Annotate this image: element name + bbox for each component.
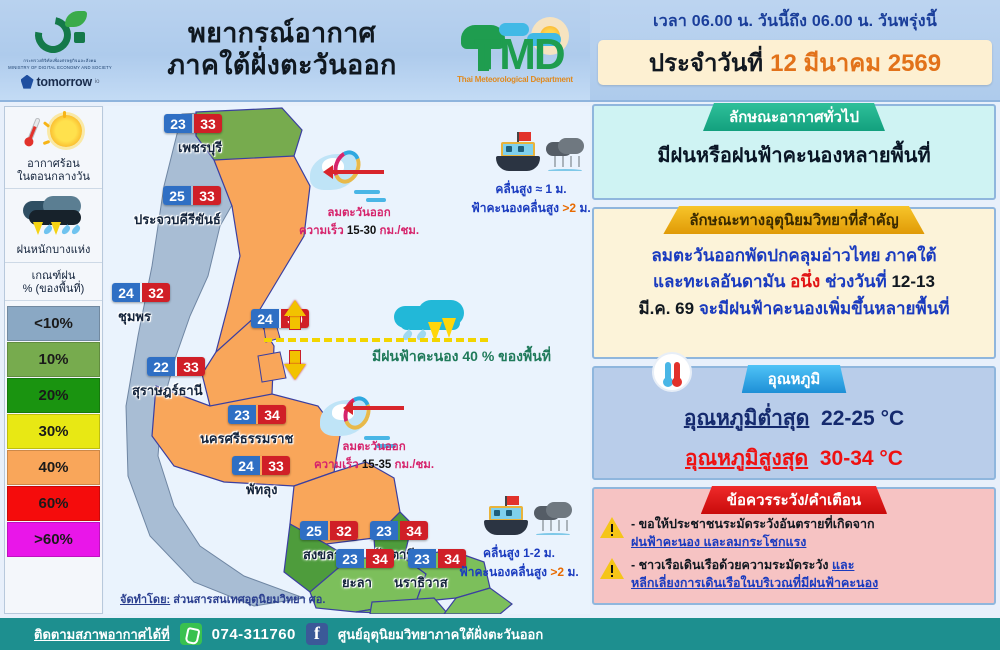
legend-swatch-4: 40% <box>7 450 100 485</box>
date-box: ประจำวันที่ 12 มีนาคม 2569 <box>598 40 992 85</box>
temp-low: 22 <box>147 357 175 376</box>
legend-scale-title: เกณฑ์ฝน % (ของพื้นที่) <box>5 263 102 301</box>
boat-icon-south <box>480 496 532 540</box>
ribbon-key: ลักษณะทางอุตุนิยมวิทยาที่สำคัญ <box>663 206 924 234</box>
forecast-divider-line <box>264 338 488 342</box>
temp-badge-phetchaburi: 23 33 <box>164 114 222 133</box>
legend-panel: อากาศร้อน ในตอนกลางวัน ฝนหนักบางแห่ง เกณ… <box>4 106 103 614</box>
warning-triangle-icon <box>600 517 624 538</box>
ribbon-temperature: อุณหภูมิ <box>742 365 847 393</box>
temp-low: 25 <box>163 186 191 205</box>
legend-swatch-1: 10% <box>7 342 100 377</box>
warning-link-inline[interactable]: และ <box>832 558 854 572</box>
province-label-phetchaburi: เพชรบุรี <box>178 137 222 158</box>
legend-heavy-rain: ฝนหนักบางแห่ง <box>5 189 102 262</box>
tomorrow-logo: tomorrow io <box>21 75 100 89</box>
province-label-narathiwat: นราธิวาส <box>394 572 448 593</box>
temp-min-value: 22-25 °C <box>821 407 904 430</box>
mdes-org-en: MINISTRY OF DIGITAL ECONOMY AND SOCIETY <box>8 65 112 71</box>
temp-low: 24 <box>232 456 260 475</box>
temp-high: 33 <box>262 456 290 475</box>
temp-badge-phatthalung: 24 33 <box>232 456 290 475</box>
wind-south-title: ลมตะวันออก <box>294 438 454 456</box>
hot-caption-1: อากาศร้อน <box>7 158 100 171</box>
legend-swatch-0: <10% <box>7 306 100 341</box>
province-label-suratthani: สุราษฎร์ธานี <box>132 380 203 401</box>
province-label-chumphon: ชุมพร <box>118 306 151 327</box>
date-label: ประจำวันที่ <box>649 43 763 82</box>
infographic-root: กระทรวงดิจิทัลเพื่อเศรษฐกิจและสังคม MINI… <box>0 0 1000 650</box>
province-label-prachuap: ประจวบคีรีขันธ์ <box>134 209 221 230</box>
boat-icon-north <box>492 132 544 176</box>
wind-annotation-north: ลมตะวันออก ความเร็ว 15-30 กม./ชม. <box>284 204 434 240</box>
key-line-1: ลมตะวันออกพัดปกคลุมอ่าวไทย ภาคใต้ <box>602 243 986 269</box>
facebook-page-name[interactable]: ศูนย์อุตุนิยมวิทยาภาคใต้ฝั่งตะวันออก <box>338 624 543 645</box>
hot-sun-thermometer-icon <box>22 113 86 157</box>
temp-high: 34 <box>400 521 428 540</box>
warning-text-2: - ชาวเรือเดินเรือด้วยความระมัดระวัง และ … <box>631 556 878 592</box>
temp-badge-chumphon: 24 32 <box>112 283 170 302</box>
temp-low: 23 <box>228 405 256 424</box>
sea-annotation-north: คลื่นสูง ≈ 1 ม. ฟ้าคะนองคลื่นสูง >2 ม. <box>456 180 590 218</box>
temp-badge-nakhon: 23 34 <box>228 405 286 424</box>
thermometer-icon <box>652 352 692 392</box>
province-label-phatthalung: พัทลุง <box>246 479 277 500</box>
arrow-down-icon <box>284 364 306 380</box>
temp-max-value: 30-34 °C <box>820 447 903 470</box>
temp-max-label: อุณหภูมิสูงสุด <box>685 447 808 470</box>
card-warnings: ข้อควรระวัง/คำเตือน - ขอให้ประชาชนระมัดร… <box>592 487 996 605</box>
card-temperature: อุณหภูมิ อุณหภูมิต่ำสุด 22-25 °C อุณหภูม… <box>592 366 996 480</box>
credit-label: จัดทำโดย: <box>120 594 170 606</box>
wind-north-speed: ความเร็ว 15-30 กม./ชม. <box>284 222 434 240</box>
temp-low: 23 <box>164 114 192 133</box>
temp-low: 23 <box>370 521 398 540</box>
rain-cloud-icon-south <box>532 502 574 542</box>
arrow-up-icon <box>284 300 306 316</box>
temp-badge-songkhla: 25 32 <box>300 521 358 540</box>
temp-high: 33 <box>193 186 221 205</box>
warning-text-1: - ขอให้ประชาชนระมัดระวังอันตรายที่เกิดจา… <box>631 515 875 551</box>
mdes-mark-icon <box>31 11 89 57</box>
arrow-up-stem <box>289 314 301 330</box>
temp-min-label: อุณหภูมิต่ำสุด <box>684 407 810 430</box>
hot-caption-2: ในตอนกลางวัน <box>7 171 100 184</box>
date-bar: เวลา 06.00 น. วันนี้ถึง 06.00 น. วันพรุ่… <box>590 0 1000 102</box>
rain-caption: ฝนหนักบางแห่ง <box>7 244 100 257</box>
temp-high: 34 <box>258 405 286 424</box>
legend-hot-weather: อากาศร้อน ในตอนกลางวัน <box>5 107 102 189</box>
title-line-1: พยากรณ์อากาศ <box>124 18 440 50</box>
map-credit: จัดทำโดย: ส่วนสารสนเทศอุตุนิยมวิทยา ศอ. <box>120 590 325 608</box>
rain-cloud-icon-north <box>544 138 586 178</box>
thunderstorm-cloud-icon <box>19 195 89 243</box>
right-panel: ลักษณะอากาศทั่วไป มีฝนหรือฝนฟ้าคะนองหลาย… <box>592 104 996 616</box>
tmd-logo: TMD Thai Meteorological Department <box>440 2 590 98</box>
legend-swatch-2: 20% <box>7 378 100 413</box>
sea-south-wave: คลื่นสูง 1-2 ม. <box>444 544 590 563</box>
date-value: 12 มีนาคม 2569 <box>770 43 941 82</box>
tmd-letters: TMD <box>453 33 585 77</box>
temp-low: 23 <box>408 549 436 568</box>
temp-high: 34 <box>366 549 394 568</box>
temp-high: 33 <box>194 114 222 133</box>
scale-title-1: เกณฑ์ฝน <box>7 270 100 283</box>
wind-south-speed: ความเร็ว 15-35 กม./ชม. <box>294 456 454 474</box>
card-general-weather: ลักษณะอากาศทั่วไป มีฝนหรือฝนฟ้าคะนองหลาย… <box>592 104 996 200</box>
wind-north-title: ลมตะวันออก <box>284 204 434 222</box>
legend-swatch-5: 60% <box>7 486 100 521</box>
wind-arrow-north-icon <box>332 170 384 174</box>
credit-text: ส่วนสารสนเทศอุตุนิยมวิทยา ศอ. <box>173 594 325 606</box>
valid-time-range: เวลา 06.00 น. วันนี้ถึง 06.00 น. วันพรุ่… <box>590 0 1000 34</box>
warning-link-2[interactable]: หลีกเลี่ยงการเดินเรือในบริเวณที่มีฝนฟ้าค… <box>631 576 878 590</box>
page-title: พยากรณ์อากาศ ภาคใต้ฝั่งตะวันออก <box>120 18 440 82</box>
tomorrow-icon <box>21 75 34 89</box>
footer-bar: ติดตามสภาพอากาศได้ที่ 074-311760 ศูนย์อุ… <box>0 618 1000 650</box>
temp-high: 32 <box>330 521 358 540</box>
follow-label: ติดตามสภาพอากาศได้ที่ <box>34 624 170 645</box>
sea-annotation-south: คลื่นสูง 1-2 ม. ฟ้าคะนองคลื่นสูง >2 ม. <box>444 544 590 582</box>
ribbon-warning: ข้อควรระวัง/คำเตือน <box>701 486 887 514</box>
sea-north-wave: คลื่นสูง ≈ 1 ม. <box>456 180 590 199</box>
phone-icon <box>180 623 202 645</box>
ribbon-general: ลักษณะอากาศทั่วไป <box>703 103 885 131</box>
province-label-nakhon: นครศรีธรรมราช <box>200 428 293 449</box>
temp-badge-prachuap: 25 33 <box>163 186 221 205</box>
temp-low: 25 <box>300 521 328 540</box>
scale-title-2: % (ของพื้นที่) <box>7 283 100 296</box>
warning-item: - ชาวเรือเดินเรือด้วยความระมัดระวัง และ … <box>600 556 988 592</box>
header-bar: กระทรวงดิจิทัลเพื่อเศรษฐกิจและสังคม MINI… <box>0 0 590 102</box>
mdes-logo: กระทรวงดิจิทัลเพื่อเศรษฐกิจและสังคม MINI… <box>0 2 120 98</box>
warning-triangle-icon <box>600 558 624 579</box>
temp-low: 24 <box>251 309 279 328</box>
storm-area-annotation: มีฝนฟ้าคะนอง 40 % ของพื้นที่ <box>372 346 551 368</box>
phone-number[interactable]: 074-311760 <box>212 626 296 643</box>
key-line-2: และทะเลอันดามัน อนึ่ง ช่วงวันที่ 12-13 <box>602 269 986 295</box>
temp-badge-yala: 23 34 <box>336 549 394 568</box>
sea-north-storm: ฟ้าคะนองคลื่นสูง >2 ม. <box>456 199 590 218</box>
tmd-artwork-icon: TMD <box>445 17 585 79</box>
tomorrow-sub: io <box>95 79 100 85</box>
temp-high: 33 <box>177 357 205 376</box>
mdes-org-th: กระทรวงดิจิทัลเพื่อเศรษฐกิจและสังคม <box>23 58 96 64</box>
temp-min-row: อุณหภูมิต่ำสุด 22-25 °C <box>594 402 994 435</box>
tomorrow-word: tomorrow <box>37 75 92 89</box>
key-line-3: มี.ค. 69 จะมีฝนฟ้าคะนองเพิ่มขึ้นหลายพื้น… <box>602 296 986 322</box>
rain-percent-scale: <10%10%20%30%40%60%>60% <box>5 301 102 558</box>
wind-annotation-south: ลมตะวันออก ความเร็ว 15-35 กม./ชม. <box>294 438 454 474</box>
temp-high: 32 <box>142 283 170 302</box>
warning-link-1[interactable]: ฝนฟ้าคะนอง และลมกระโชกแรง <box>631 535 806 549</box>
warning-item: - ขอให้ประชาชนระมัดระวังอันตรายที่เกิดจา… <box>600 515 988 551</box>
facebook-icon[interactable] <box>306 623 328 645</box>
temp-badge-pattani: 23 34 <box>370 521 428 540</box>
temp-low: 23 <box>336 549 364 568</box>
sea-south-storm: ฟ้าคะนองคลื่นสูง >2 ม. <box>444 563 590 582</box>
legend-swatch-6: >60% <box>7 522 100 557</box>
title-line-2: ภาคใต้ฝั่งตะวันออก <box>124 50 440 82</box>
temp-low: 24 <box>112 283 140 302</box>
legend-swatch-3: 30% <box>7 414 100 449</box>
card-key-meteorology: ลักษณะทางอุตุนิยมวิทยาที่สำคัญ ลมตะวันออ… <box>592 207 996 359</box>
temp-badge-suratthani: 22 33 <box>147 357 205 376</box>
province-label-yala: ยะลา <box>342 572 372 593</box>
temp-max-row: อุณหภูมิสูงสุด 30-34 °C <box>594 442 994 475</box>
wind-arrow-south-icon <box>352 406 404 410</box>
map-panel[interactable]: 23 33 เพชรบุรี 25 33 ประจวบคีรีขันธ์ 24 … <box>104 106 590 614</box>
